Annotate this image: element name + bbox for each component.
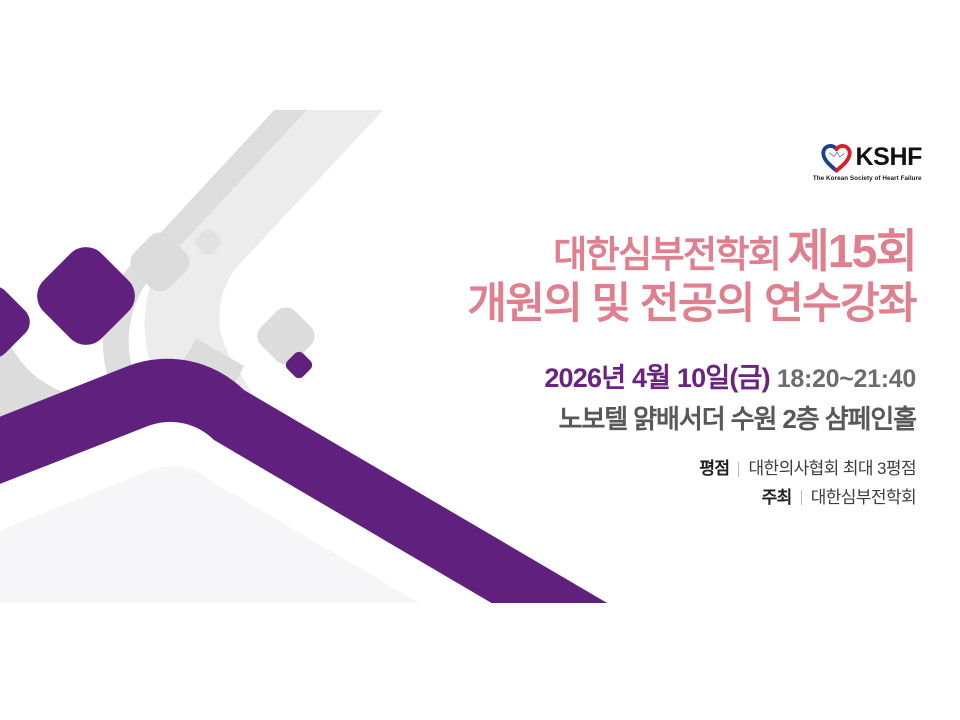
- banner-text-block: 대한심부전학회제15회 개원의 및 전공의 연수강좌 2026년 4월 10일(…: [356, 228, 916, 516]
- info-row-host: 주최 대한심부전학회: [356, 488, 916, 508]
- info-value-credits: 대한의사협회 최대 3평점: [748, 459, 916, 479]
- event-time: 18:20~21:40: [777, 365, 916, 393]
- purple-diamond-small: [283, 349, 314, 380]
- logo-row: KSHF: [820, 140, 922, 174]
- event-date-line: 2026년 4월 10일(금)18:20~21:40: [356, 364, 916, 394]
- title-society-name: 대한심부전학회: [553, 234, 780, 275]
- purple-diamond-large: [28, 238, 144, 354]
- event-venue: 노보텔 얅배서더 수원 2층 샴페인홀: [356, 405, 916, 434]
- logo-wordmark: KSHF: [856, 145, 922, 170]
- logo-tagline: The Korean Society of Heart Failure: [813, 175, 922, 182]
- gray-diamond-medium: [125, 227, 196, 298]
- title-line-2: 개원의 및 전공의 연수강좌: [356, 283, 916, 326]
- info-label-host: 주최: [762, 488, 792, 508]
- info-list: 평점 대한의사협회 최대 3평점 주최 대한심부전학회: [356, 459, 916, 507]
- gray-diamond-right: [252, 302, 320, 370]
- gray-soft-blob: [0, 336, 244, 454]
- gray-chevron-line: [103, 26, 372, 580]
- kshf-logo: KSHF The Korean Society of Heart Failure: [826, 140, 922, 188]
- info-label-credits: 평점: [699, 459, 729, 479]
- info-row-credits: 평점 대한의사협회 최대 3평점: [356, 459, 916, 479]
- title-edition-number: 제15회: [787, 225, 916, 277]
- info-value-host: 대한심부전학회: [811, 488, 916, 508]
- purple-diamond-edge: [0, 280, 36, 365]
- info-separator-icon: [801, 490, 802, 505]
- info-separator-icon: [738, 462, 739, 477]
- title-line-1: 대한심부전학회제15회: [356, 228, 916, 274]
- gray-diamond-small: [192, 226, 223, 257]
- heart-icon: [820, 142, 853, 173]
- event-date: 2026년 4월 10일(금): [544, 363, 769, 393]
- conference-banner: KSHF The Korean Society of Heart Failure…: [0, 0, 960, 720]
